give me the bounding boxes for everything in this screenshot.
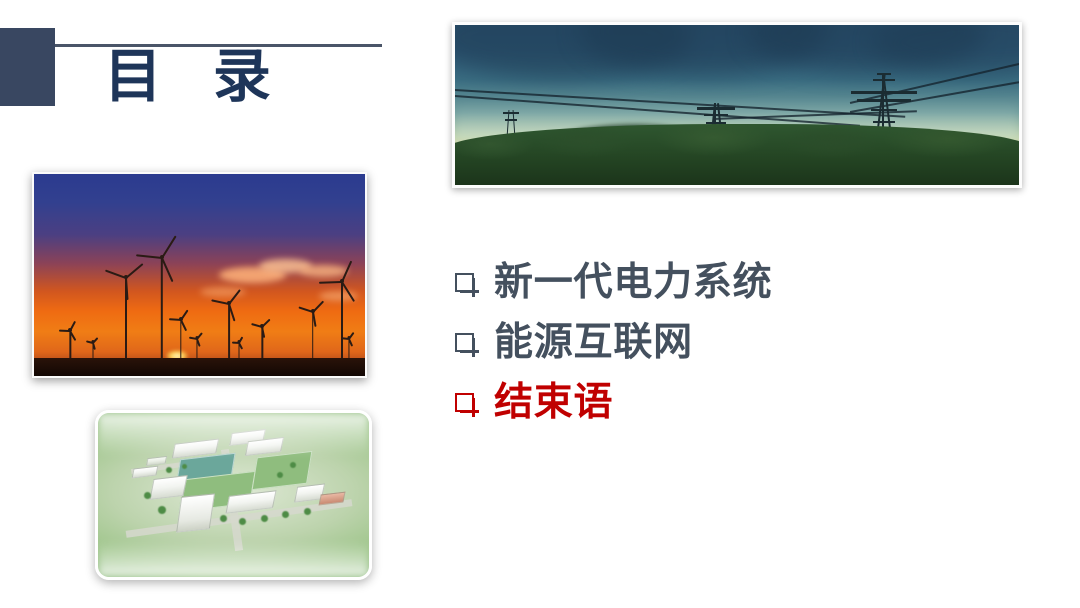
- hollow-square-bullet-icon: [455, 333, 474, 352]
- page-title: 目 录: [104, 46, 274, 107]
- slide-root: 目 录: [0, 0, 1080, 608]
- agenda-item-label: 能源互联网: [494, 323, 693, 362]
- hollow-square-bullet-icon: [455, 273, 474, 292]
- photo-fade-top: [98, 413, 369, 456]
- agenda-item-1[interactable]: 新一代电力系统: [455, 258, 772, 306]
- title-accent-block: [0, 28, 55, 106]
- hollow-square-bullet-icon: [455, 393, 474, 412]
- campus-tree: [144, 492, 151, 499]
- agenda-item-3[interactable]: 结束语: [455, 378, 772, 426]
- campus-tower-building: [176, 493, 214, 532]
- campus-tree: [166, 467, 172, 473]
- agenda-list: 新一代电力系统 能源互联网 结束语: [455, 258, 772, 438]
- agenda-item-2[interactable]: 能源互联网: [455, 318, 772, 366]
- wind-turbine: [87, 342, 99, 358]
- campus-aerial-photo: [95, 410, 372, 580]
- campus-tree: [182, 464, 187, 469]
- campus-tree: [304, 508, 311, 515]
- campus-tree: [261, 515, 268, 522]
- agenda-item-label: 新一代电力系统: [494, 263, 772, 302]
- wind-turbine: [60, 330, 80, 358]
- wind-turbine: [299, 311, 327, 357]
- ground-silhouette: [34, 358, 365, 376]
- campus-tree: [277, 472, 283, 478]
- agenda-item-label: 结束语: [494, 383, 613, 422]
- wind-turbine: [107, 277, 145, 358]
- campus-tree: [239, 518, 246, 525]
- campus-tree: [220, 515, 227, 522]
- cloud-shape: [299, 265, 349, 277]
- transmission-towers-photo: [452, 22, 1022, 188]
- wind-turbine: [190, 338, 204, 358]
- wind-turbine: [170, 319, 192, 357]
- wind-farm-photo: [32, 172, 367, 378]
- forest-canopy: [452, 124, 1022, 188]
- photo-fade-bottom: [98, 541, 369, 577]
- wind-turbine: [252, 326, 272, 358]
- wind-turbine: [233, 342, 245, 358]
- wind-turbine: [342, 338, 356, 358]
